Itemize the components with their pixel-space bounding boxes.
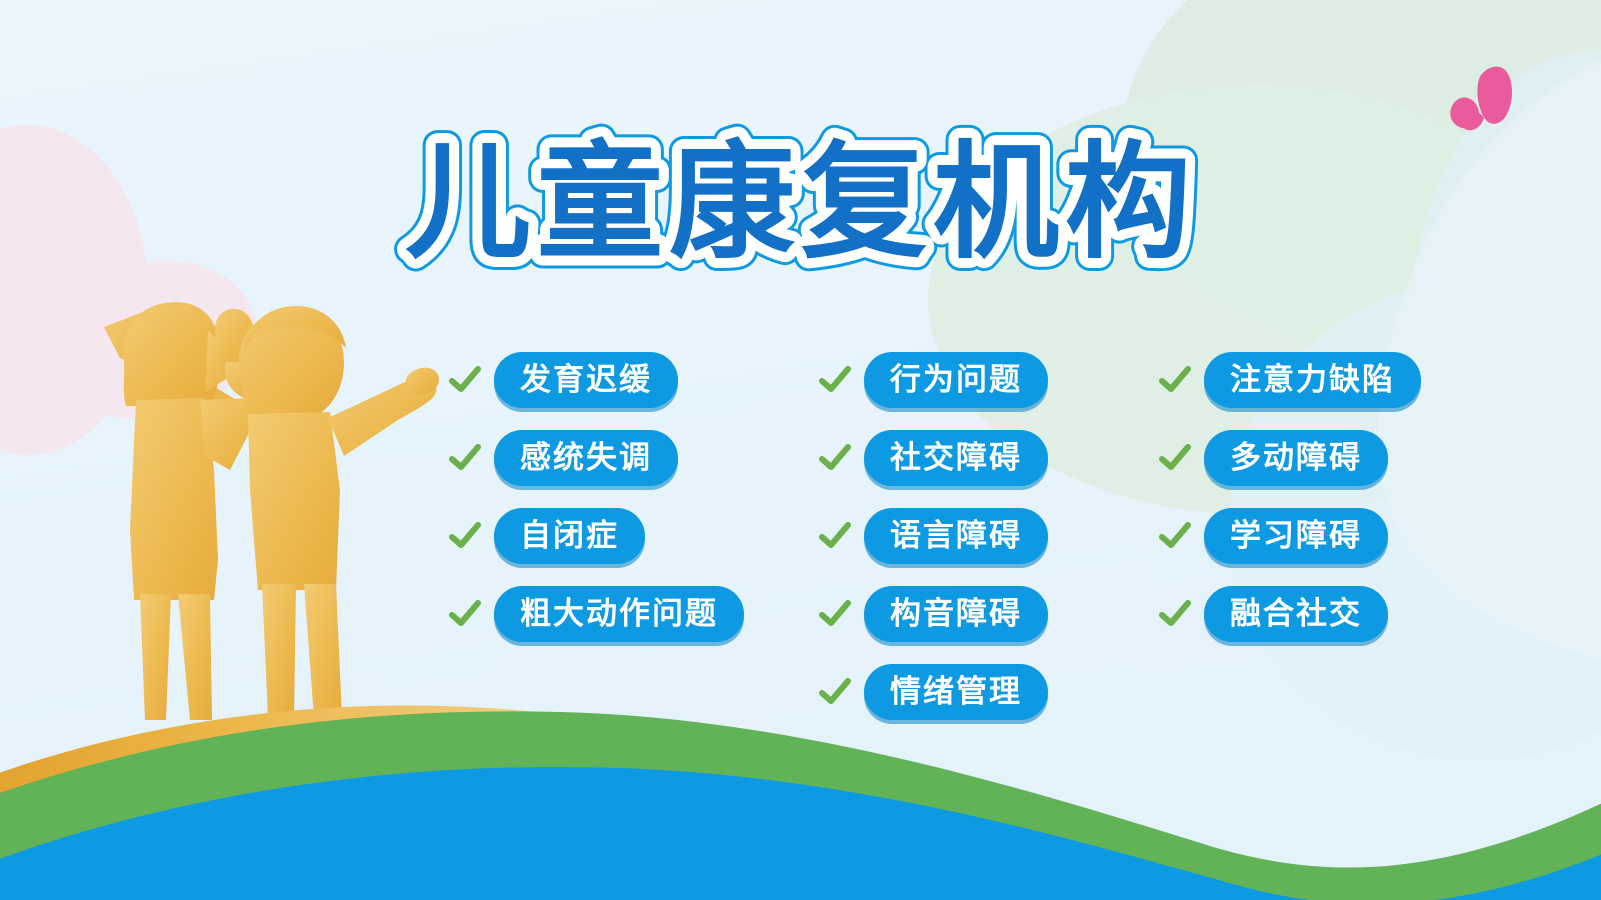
list-item[interactable]: 语言障碍 xyxy=(818,508,1158,564)
list-item[interactable]: 社交障碍 xyxy=(818,430,1158,486)
service-tag[interactable]: 感统失调 xyxy=(494,430,678,486)
check-icon xyxy=(818,519,852,553)
check-icon xyxy=(1158,363,1192,397)
check-icon xyxy=(448,597,482,631)
list-item[interactable]: 多动障碍 xyxy=(1158,430,1508,486)
check-icon xyxy=(818,363,852,397)
check-icon xyxy=(448,441,482,475)
service-tag-columns: 发育迟缓 感统失调 自闭症 粗大动作问题 xyxy=(448,352,1548,752)
check-icon xyxy=(1158,597,1192,631)
list-item[interactable]: 行为问题 xyxy=(818,352,1158,408)
list-item[interactable]: 注意力缺陷 xyxy=(1158,352,1508,408)
service-tag[interactable]: 行为问题 xyxy=(864,352,1048,408)
check-icon xyxy=(1158,519,1192,553)
list-item[interactable]: 自闭症 xyxy=(448,508,818,564)
check-icon xyxy=(1158,441,1192,475)
service-tag[interactable]: 注意力缺陷 xyxy=(1204,352,1421,408)
service-tag[interactable]: 发育迟缓 xyxy=(494,352,678,408)
list-item[interactable]: 发育迟缓 xyxy=(448,352,818,408)
list-item[interactable]: 构音障碍 xyxy=(818,586,1158,642)
list-item[interactable]: 情绪管理 xyxy=(818,664,1158,720)
service-tag[interactable]: 多动障碍 xyxy=(1204,430,1388,486)
service-tag[interactable]: 融合社交 xyxy=(1204,586,1388,642)
service-tag[interactable]: 构音障碍 xyxy=(864,586,1048,642)
list-item[interactable]: 融合社交 xyxy=(1158,586,1508,642)
check-icon xyxy=(818,597,852,631)
service-tag[interactable]: 自闭症 xyxy=(494,508,645,564)
service-column-2: 行为问题 社交障碍 语言障碍 构音障碍 xyxy=(818,352,1158,742)
list-item[interactable]: 学习障碍 xyxy=(1158,508,1508,564)
check-icon xyxy=(448,363,482,397)
list-item[interactable]: 粗大动作问题 xyxy=(448,586,818,642)
service-column-3: 注意力缺陷 多动障碍 学习障碍 融合社交 xyxy=(1158,352,1508,664)
service-tag[interactable]: 情绪管理 xyxy=(864,664,1048,720)
service-tag[interactable]: 学习障碍 xyxy=(1204,508,1388,564)
service-tag[interactable]: 粗大动作问题 xyxy=(494,586,744,642)
service-tag[interactable]: 语言障碍 xyxy=(864,508,1048,564)
poster-canvas: 儿童康复机构 儿童康复机构 儿童康复机构 发育迟缓 感统失调 xyxy=(0,0,1601,900)
service-column-1: 发育迟缓 感统失调 自闭症 粗大动作问题 xyxy=(448,352,818,664)
list-item[interactable]: 感统失调 xyxy=(448,430,818,486)
check-icon xyxy=(818,441,852,475)
service-tag[interactable]: 社交障碍 xyxy=(864,430,1048,486)
check-icon xyxy=(448,519,482,553)
check-icon xyxy=(818,675,852,709)
